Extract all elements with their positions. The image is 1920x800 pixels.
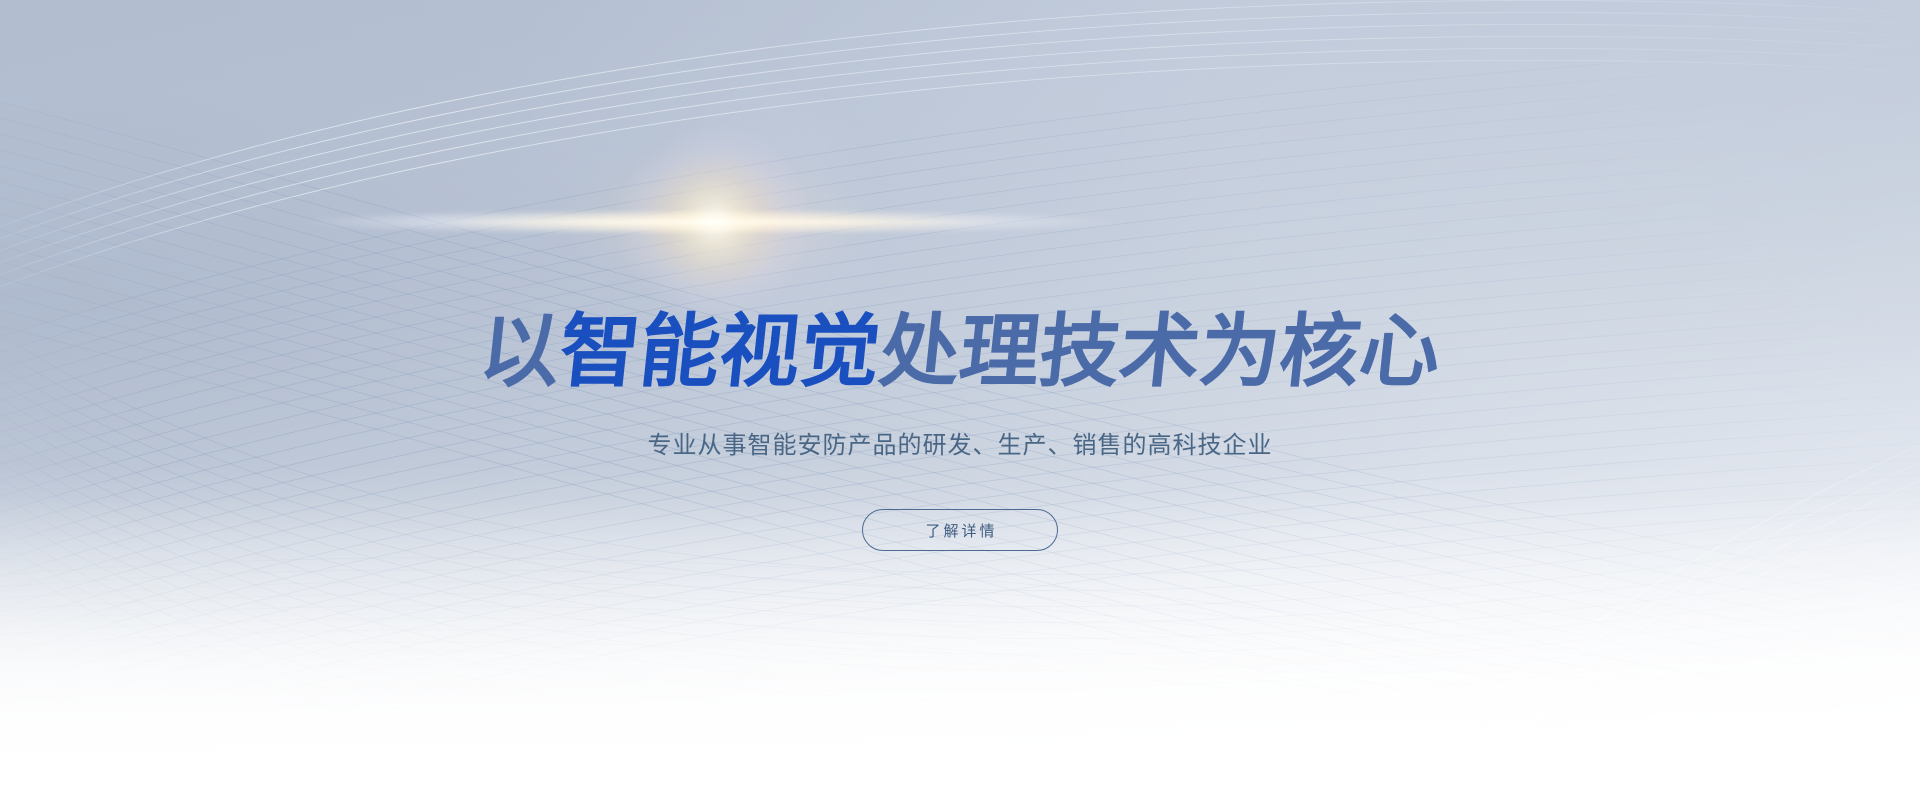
headline-segment-3: 处理技术为核心 [876, 312, 1444, 392]
cta-container: 了解详情 [0, 509, 1920, 551]
headline-segment-1: 以 [476, 312, 564, 392]
hero-banner: 以智能视觉处理技术为核心 专业从事智能安防产品的研发、生产、销售的高科技企业 了… [0, 0, 1920, 800]
hero-subtitle: 专业从事智能安防产品的研发、生产、销售的高科技企业 [0, 428, 1920, 464]
learn-more-button[interactable]: 了解详情 [862, 509, 1058, 551]
headline-segment-accent: 智能视觉 [556, 312, 884, 392]
page-title: 以智能视觉处理技术为核心 [0, 312, 1920, 392]
hero-content: 以智能视觉处理技术为核心 专业从事智能安防产品的研发、生产、销售的高科技企业 了… [0, 0, 1920, 800]
